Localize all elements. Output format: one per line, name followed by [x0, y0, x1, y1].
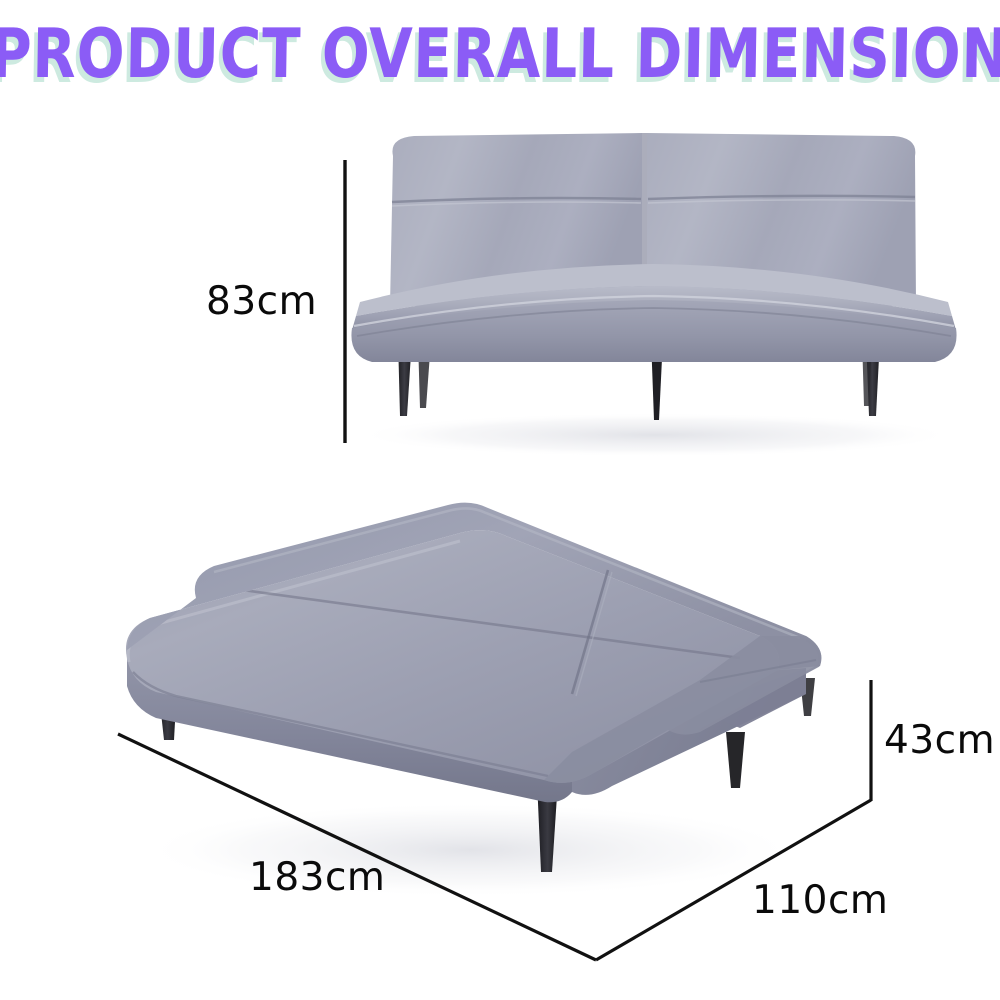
floor-shadow-flat	[140, 802, 800, 898]
leg-bed-right-rear	[726, 732, 745, 788]
page-header: PRODUCT OVERALL DIMENSION PRODUCT OVERAL…	[0, 0, 1000, 110]
dimension-label-width: 110cm	[752, 878, 888, 923]
page-title: PRODUCT OVERALL DIMENSION PRODUCT OVERAL…	[0, 21, 1000, 89]
dimension-label-length: 183cm	[249, 855, 385, 900]
dimension-label-bed-height: 43cm	[884, 718, 995, 763]
sofa-upright-view	[0, 120, 1000, 480]
sofa-upright-illustration	[0, 120, 1000, 480]
dimension-label-height: 83cm	[206, 279, 317, 324]
page-title-text: PRODUCT OVERALL DIMENSION	[0, 15, 1000, 94]
